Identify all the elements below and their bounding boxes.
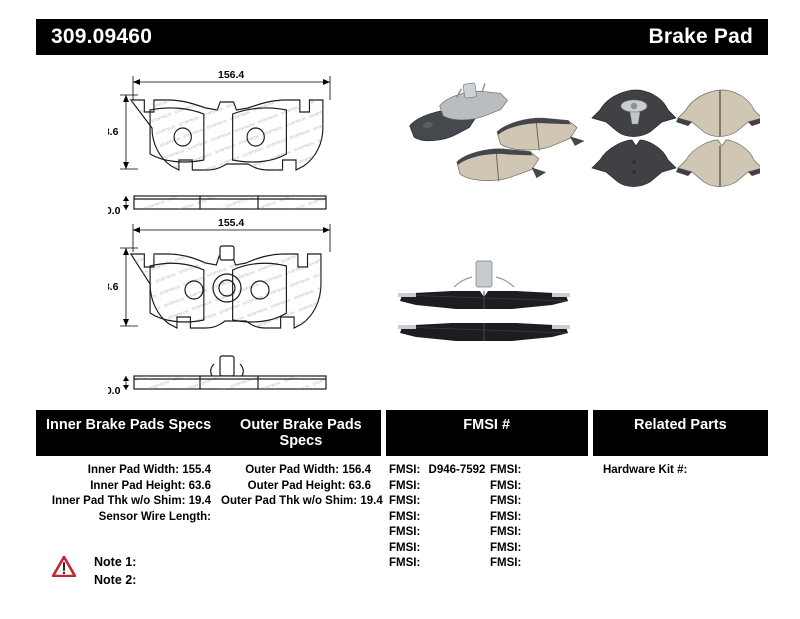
spec-value: 63.6 bbox=[349, 480, 371, 492]
fmsi-row: FMSI: D946-7592 bbox=[386, 463, 487, 479]
spec-label: Outer Pad Thk w/o Shim: bbox=[221, 495, 357, 507]
fmsi-row: FMSI: bbox=[386, 525, 487, 541]
part-number: 309.09460 bbox=[51, 25, 152, 49]
specifications-table: Inner Brake Pads Specs Outer Brake Pads … bbox=[36, 410, 768, 572]
spec-row: Inner Pad Height: 63.6 bbox=[36, 479, 221, 495]
spec-label: Inner Pad Thk w/o Shim: bbox=[52, 495, 186, 507]
fmsi-label: FMSI: bbox=[389, 480, 420, 492]
spec-label: Inner Pad Height: bbox=[90, 480, 185, 492]
spec-row: Inner Pad Width: 155.4 bbox=[36, 463, 221, 479]
outer-pad-drawing: STOPTECH 156.4 63.6 bbox=[108, 62, 348, 202]
fmsi-row: FMSI: bbox=[487, 556, 588, 572]
outer-width-dim: 156.4 bbox=[218, 69, 244, 81]
fmsi-label: FMSI: bbox=[389, 511, 420, 523]
fmsi-value bbox=[420, 480, 425, 492]
header-outer-specs: Outer Brake Pads Specs bbox=[221, 410, 380, 456]
fmsi-value bbox=[521, 495, 526, 507]
spec-value: 19.4 bbox=[360, 495, 382, 507]
fmsi-row: FMSI: bbox=[487, 463, 588, 479]
fmsi-label: FMSI: bbox=[490, 464, 521, 476]
inner-pad-side-view: 20.0 bbox=[108, 354, 348, 402]
warning-triangle-icon bbox=[52, 556, 76, 577]
table-header-row: Inner Brake Pads Specs Outer Brake Pads … bbox=[36, 410, 768, 456]
fmsi-value bbox=[420, 557, 425, 569]
spec-row: Outer Pad Height: 63.6 bbox=[221, 479, 381, 495]
header-inner-specs: Inner Brake Pads Specs bbox=[36, 410, 221, 456]
related-part-row: Hardware Kit #: bbox=[593, 463, 768, 479]
fmsi-value bbox=[521, 557, 526, 569]
fmsi-row: FMSI: bbox=[487, 494, 588, 510]
fmsi-value bbox=[521, 480, 526, 492]
outer-specs-column: Outer Pad Width: 156.4 Outer Pad Height:… bbox=[221, 463, 381, 572]
fmsi-row: FMSI: bbox=[386, 556, 487, 572]
fmsi-subcolumn-1: FMSI: D946-7592 FMSI: FMSI: FMSI: FMSI: bbox=[386, 463, 487, 572]
spec-label: Outer Pad Height: bbox=[248, 480, 346, 492]
fmsi-value bbox=[420, 526, 425, 538]
fmsi-value bbox=[521, 464, 526, 476]
spec-row: Sensor Wire Length: bbox=[36, 510, 221, 526]
fmsi-value bbox=[420, 542, 425, 554]
outer-height-dim: 63.6 bbox=[108, 126, 119, 138]
product-photo-pad-grid bbox=[588, 86, 760, 194]
spec-row: Inner Pad Thk w/o Shim: 19.4 bbox=[36, 494, 221, 510]
product-type: Brake Pad bbox=[648, 25, 753, 49]
fmsi-label: FMSI: bbox=[490, 526, 521, 538]
fmsi-label: FMSI: bbox=[389, 495, 420, 507]
fmsi-row: FMSI: bbox=[386, 510, 487, 526]
product-photo-pad-edge-view bbox=[392, 255, 578, 355]
table-body: Inner Pad Width: 155.4 Inner Pad Height:… bbox=[36, 456, 768, 572]
fmsi-row: FMSI: bbox=[386, 479, 487, 495]
fmsi-label: FMSI: bbox=[490, 480, 521, 492]
fmsi-label: FMSI: bbox=[490, 542, 521, 554]
spec-row: Outer Pad Thk w/o Shim: 19.4 bbox=[221, 494, 381, 510]
fmsi-row: FMSI: bbox=[487, 541, 588, 557]
fmsi-label: FMSI: bbox=[490, 511, 521, 523]
fmsi-label: FMSI: bbox=[490, 557, 521, 569]
fmsi-label: FMSI: bbox=[389, 557, 420, 569]
inner-pad-drawing: 155.4 63.6 bbox=[108, 210, 348, 360]
fmsi-value bbox=[521, 542, 526, 554]
header-related-parts: Related Parts bbox=[593, 410, 768, 456]
note-line-2: Note 2: bbox=[94, 571, 136, 589]
fmsi-label: FMSI: bbox=[389, 526, 420, 538]
spec-value: 19.4 bbox=[189, 495, 211, 507]
fmsi-row: FMSI: bbox=[487, 479, 588, 495]
fmsi-label: FMSI: bbox=[389, 464, 420, 476]
spec-value: 63.6 bbox=[189, 480, 211, 492]
fmsi-column: FMSI: D946-7592 FMSI: FMSI: FMSI: FMSI: bbox=[386, 463, 588, 572]
fmsi-subcolumn-2: FMSI: FMSI: FMSI: FMSI: FMSI: bbox=[487, 463, 588, 572]
fmsi-value bbox=[420, 511, 425, 523]
inner-height-dim: 63.6 bbox=[108, 281, 119, 293]
title-bar: 309.09460 Brake Pad bbox=[36, 19, 768, 55]
fmsi-row: FMSI: bbox=[386, 541, 487, 557]
inner-thickness-dim: 20.0 bbox=[108, 385, 121, 397]
fmsi-row: FMSI: bbox=[386, 494, 487, 510]
related-part-label: Hardware Kit #: bbox=[603, 464, 687, 476]
spec-row: Outer Pad Width: 156.4 bbox=[221, 463, 381, 479]
header-fmsi: FMSI # bbox=[386, 410, 588, 456]
spec-label: Outer Pad Width: bbox=[245, 464, 339, 476]
spec-label: Inner Pad Width: bbox=[88, 464, 179, 476]
fmsi-value bbox=[521, 526, 526, 538]
spec-value: 155.4 bbox=[182, 464, 211, 476]
fmsi-row: FMSI: bbox=[487, 525, 588, 541]
fmsi-value bbox=[420, 495, 425, 507]
note-line-1: Note 1: bbox=[94, 553, 136, 571]
note-lines: Note 1: Note 2: bbox=[94, 553, 136, 589]
related-parts-column: Hardware Kit #: bbox=[593, 463, 768, 572]
fmsi-value bbox=[521, 511, 526, 523]
notes-section: Note 1: Note 2: bbox=[52, 553, 136, 589]
spec-value: 156.4 bbox=[342, 464, 371, 476]
spec-label: Sensor Wire Length: bbox=[99, 511, 211, 523]
fmsi-value: D946-7592 bbox=[424, 464, 486, 476]
fmsi-row: FMSI: bbox=[487, 510, 588, 526]
fmsi-label: FMSI: bbox=[490, 495, 521, 507]
product-photo-pad-group bbox=[400, 82, 585, 194]
fmsi-label: FMSI: bbox=[389, 542, 420, 554]
inner-width-dim: 155.4 bbox=[218, 217, 244, 229]
